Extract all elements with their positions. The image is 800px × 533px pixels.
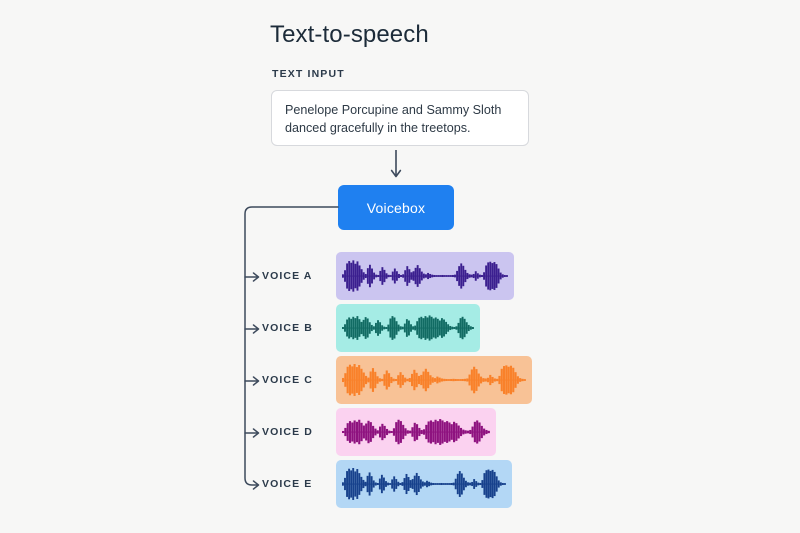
voice-label-b: VOICE B <box>262 322 313 334</box>
voice-label-e: VOICE E <box>262 478 312 490</box>
waveform-panel-a[interactable] <box>336 252 514 300</box>
waveform-panel-b[interactable] <box>336 304 480 352</box>
text-input-field[interactable]: Penelope Porcupine and Sammy Sloth dance… <box>271 90 529 146</box>
waveform-panel-c[interactable] <box>336 356 532 404</box>
voicebox-model-button[interactable]: Voicebox <box>338 185 454 230</box>
diagram-canvas: Text-to-speech TEXT INPUT Penelope Porcu… <box>0 0 800 533</box>
text-input-value: Penelope Porcupine and Sammy Sloth dance… <box>285 101 515 137</box>
voicebox-button-label: Voicebox <box>367 200 425 216</box>
branch-connector-icon <box>238 180 348 500</box>
voice-label-c: VOICE C <box>262 374 313 386</box>
waveform-panel-d[interactable] <box>336 408 496 456</box>
text-input-label: TEXT INPUT <box>272 68 345 80</box>
page-title: Text-to-speech <box>270 19 429 51</box>
arrow-down-icon <box>389 150 403 182</box>
voice-label-a: VOICE A <box>262 270 312 282</box>
voice-label-d: VOICE D <box>262 426 313 438</box>
waveform-panel-e[interactable] <box>336 460 512 508</box>
